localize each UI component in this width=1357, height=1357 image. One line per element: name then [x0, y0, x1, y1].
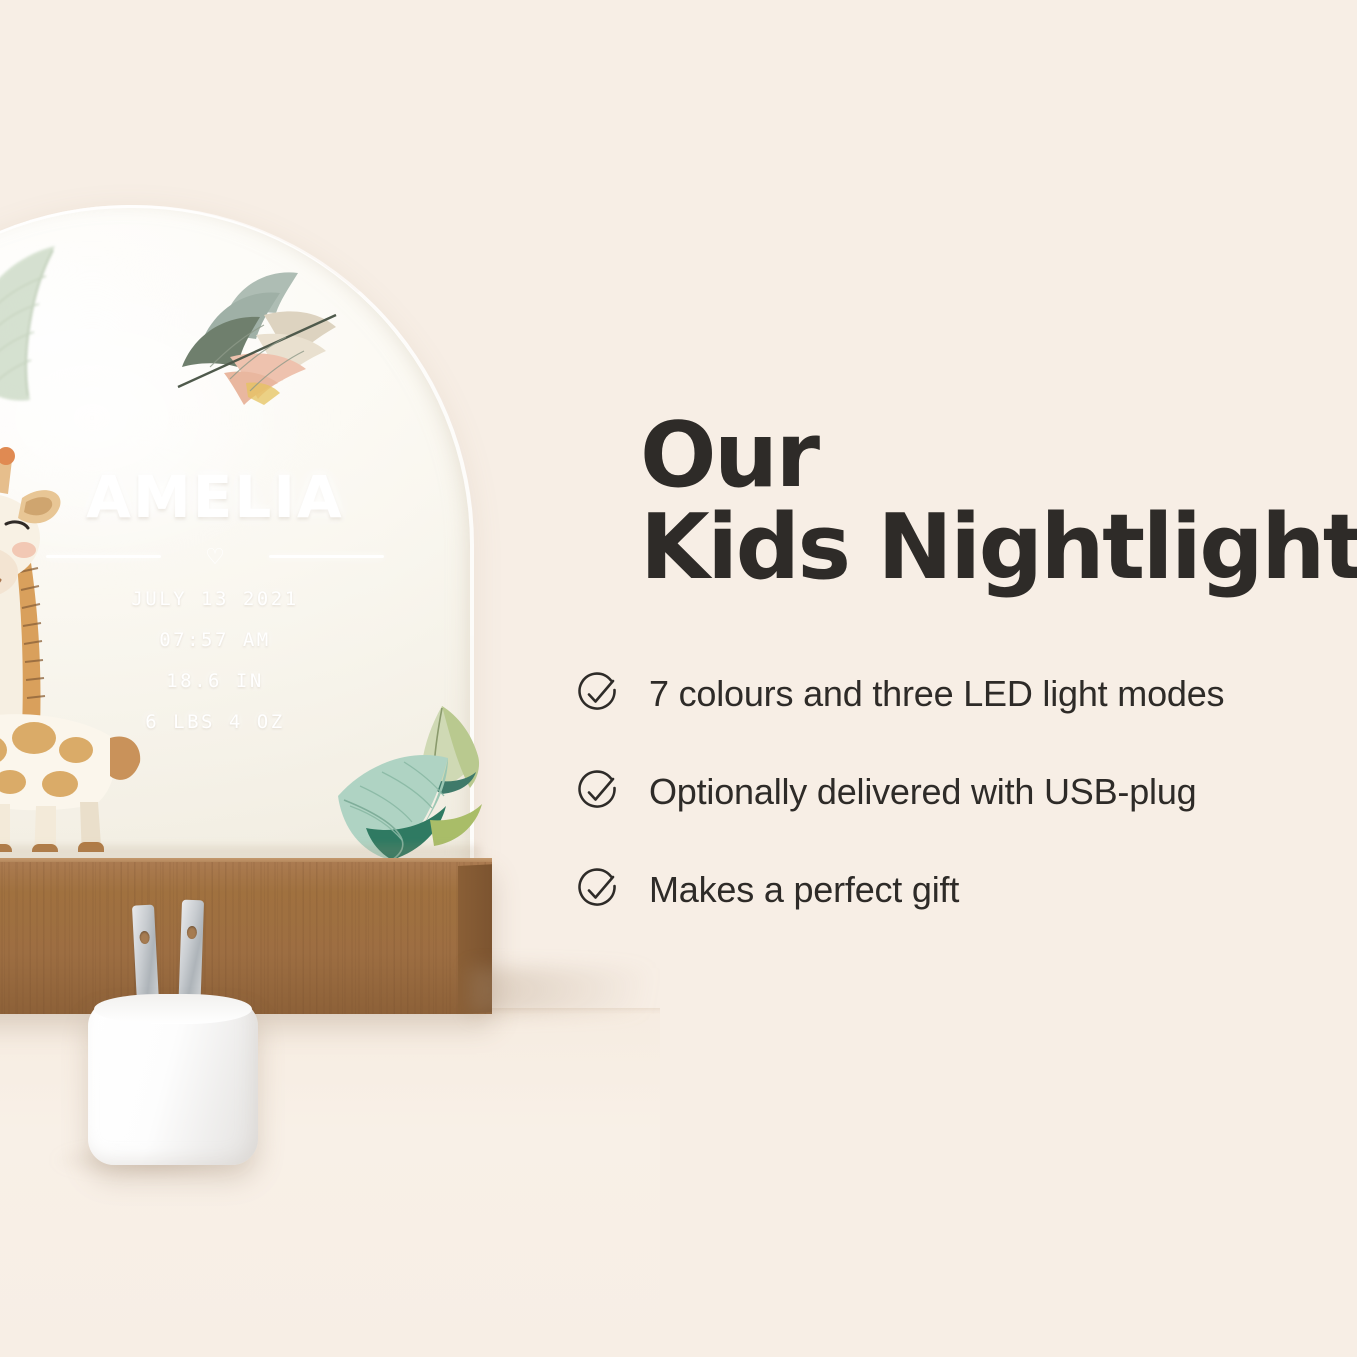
- product-promo-banner: AMELIA ♡ JULY 13 2021 07:57 AM 18.6 IN 6…: [0, 0, 1357, 1357]
- engraved-detail-line: JULY 13 2021: [40, 590, 390, 609]
- engraved-text-block: AMELIA ♡ JULY 13 2021 07:57 AM 18.6 IN 6…: [40, 468, 390, 754]
- headline-line-1: Our: [640, 403, 817, 508]
- engraved-name: AMELIA: [40, 468, 390, 526]
- check-circle-icon: [575, 671, 621, 717]
- list-item: Optionally delivered with USB-plug: [575, 743, 1335, 841]
- engraved-detail-line: 18.6 IN: [40, 672, 390, 691]
- engraved-detail-line: 6 LBS 4 OZ: [40, 713, 390, 732]
- pale-leaf-edge-icon: [0, 238, 70, 408]
- engraved-detail-line: 07:57 AM: [40, 631, 390, 650]
- check-circle-icon: [575, 867, 621, 913]
- feature-text: 7 colours and three LED light modes: [649, 673, 1224, 715]
- headline-line-2: Kids Nightlight: [640, 502, 1340, 594]
- heart-divider: ♡: [40, 542, 390, 568]
- engraved-details: JULY 13 2021 07:57 AM 18.6 IN 6 LBS 4 OZ: [40, 590, 390, 732]
- feature-list: 7 colours and three LED light modes Opti…: [575, 645, 1335, 939]
- feature-text: Makes a perfect gift: [649, 869, 959, 911]
- wooden-base-cast-shadow: [470, 968, 660, 1014]
- usb-power-plug: [88, 900, 258, 1165]
- plug-body: [88, 1000, 258, 1165]
- marketing-copy: Our Kids Nightlight 7 colours and three …: [640, 0, 1357, 1357]
- heart-icon: ♡: [205, 546, 225, 568]
- product-photo: AMELIA ♡ JULY 13 2021 07:57 AM 18.6 IN 6…: [0, 0, 660, 1357]
- feature-text: Optionally delivered with USB-plug: [649, 771, 1196, 813]
- divider-bar-left: [46, 555, 161, 558]
- plug-top-face: [94, 994, 252, 1024]
- page-title: Our Kids Nightlight: [640, 410, 1340, 594]
- plug-prong-hole: [187, 926, 197, 939]
- check-circle-icon: [575, 769, 621, 815]
- monstera-leaf-top-icon: [168, 255, 368, 405]
- list-item: 7 colours and three LED light modes: [575, 645, 1335, 743]
- list-item: Makes a perfect gift: [575, 841, 1335, 939]
- plug-prong-hole: [139, 931, 150, 945]
- divider-bar-right: [269, 555, 384, 558]
